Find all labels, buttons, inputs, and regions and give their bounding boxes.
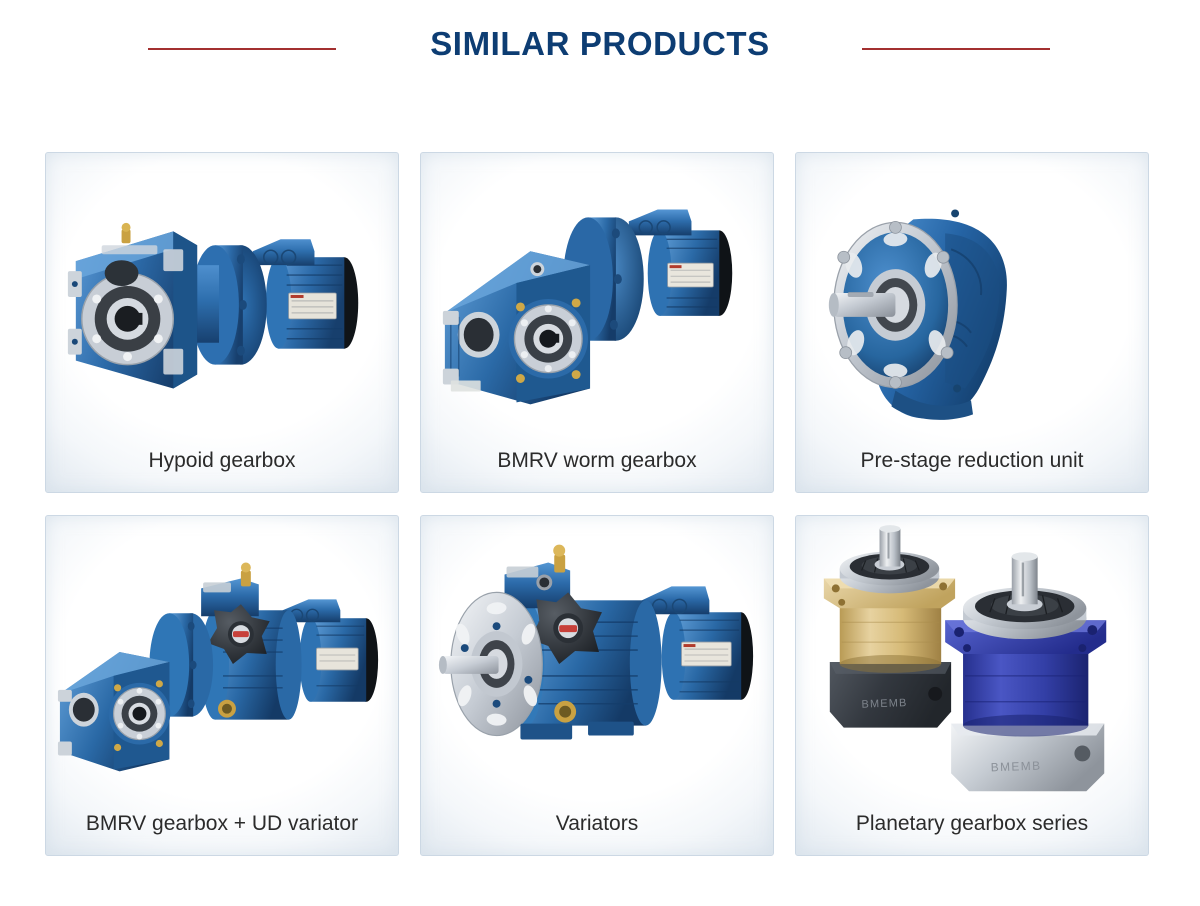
product-caption: BMRV gearbox + UD variator xyxy=(46,795,398,855)
product-image-bmrv-gearbox-ud-variator xyxy=(46,516,398,798)
page-header: SIMILAR PRODUCTS xyxy=(0,0,1200,100)
product-caption: Variators xyxy=(421,795,773,855)
svg-text:BMEMB: BMEMB xyxy=(861,697,907,711)
product-card-planetary-gearbox-series[interactable]: BMEMB xyxy=(795,515,1149,856)
product-caption: Planetary gearbox series xyxy=(796,795,1148,855)
page-title: SIMILAR PRODUCTS xyxy=(0,22,1200,66)
product-caption: Pre-stage reduction unit xyxy=(796,432,1148,492)
product-image-planetary-gearbox-series: BMEMB xyxy=(796,516,1148,798)
product-image-hypoid-gearbox xyxy=(46,153,398,435)
product-image-variators xyxy=(421,516,773,798)
svg-text:BMEMB: BMEMB xyxy=(991,759,1042,775)
product-card-hypoid-gearbox[interactable]: Hypoid gearbox xyxy=(45,152,399,493)
product-grid: Hypoid gearbox xyxy=(45,152,1157,856)
product-card-bmrv-gearbox-ud-variator[interactable]: BMRV gearbox + UD variator xyxy=(45,515,399,856)
product-card-bmrv-worm-gearbox[interactable]: BMRV worm gearbox xyxy=(420,152,774,493)
product-card-pre-stage-reduction-unit[interactable]: Pre-stage reduction unit xyxy=(795,152,1149,493)
product-image-bmrv-worm-gearbox xyxy=(421,153,773,435)
product-card-variators[interactable]: Variators xyxy=(420,515,774,856)
product-image-pre-stage-reduction-unit xyxy=(796,153,1148,435)
product-caption: Hypoid gearbox xyxy=(46,432,398,492)
product-caption: BMRV worm gearbox xyxy=(421,432,773,492)
